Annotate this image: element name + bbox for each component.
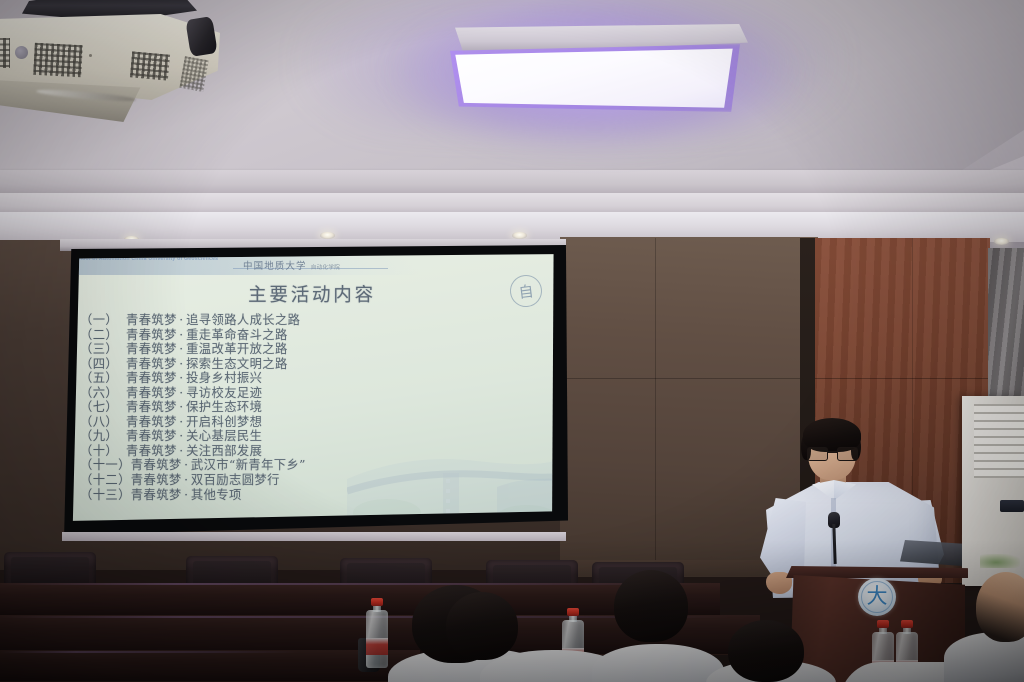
slide-item-prefix: 青春筑梦 (126, 386, 177, 401)
bottle-cap (877, 620, 889, 628)
audience-member-head (446, 592, 518, 660)
ceiling-projector (0, 0, 237, 126)
slide-item-prefix: 青春筑梦 (126, 400, 177, 415)
slide-activity-item: （五）青春筑梦·投身乡村振兴 (80, 371, 548, 386)
slide-item-number: （六） (80, 386, 126, 401)
slide-university-name: 中国地质大学 自动化学院 (243, 258, 340, 272)
slide-item-separator: · (182, 488, 191, 503)
slide-item-separator: · (177, 371, 186, 386)
table-edge-highlight (0, 651, 300, 653)
emblem-glyph: 大 (867, 586, 888, 607)
bottle-neck (373, 605, 381, 612)
eyeglass-bridge (827, 451, 838, 453)
slide-item-separator: · (177, 429, 186, 444)
slide-item-prefix: 青春筑梦 (131, 488, 182, 503)
slide-item-topic: 重温改革开放之路 (186, 342, 288, 357)
audience-member-head (728, 620, 804, 682)
wall-seam (560, 378, 818, 379)
recessed-downlight (320, 232, 335, 239)
bottle-cap (371, 598, 383, 606)
slide-item-separator: · (182, 458, 191, 473)
slide-item-number: （十二） (80, 473, 131, 488)
slide-activity-item: （七）青春筑梦·保护生态环境 (80, 400, 548, 415)
wall-seam (655, 238, 656, 576)
slide-item-number: （八） (80, 415, 126, 430)
slide-item-topic: 关注西部发展 (186, 444, 262, 459)
slide-activity-item: （四）青春筑梦·探索生态文明之路 (80, 357, 548, 372)
ac-control-panel[interactable] (1000, 500, 1024, 512)
chair-backrest-pad (11, 557, 89, 586)
projector-vent-grille (0, 38, 10, 68)
slide-item-number: （九） (80, 429, 126, 444)
ac-vent-grille (974, 404, 1024, 478)
slide-item-separator: · (182, 473, 191, 488)
eyeglass-lens-left (807, 447, 828, 461)
slide-item-topic: 开启科创梦想 (186, 415, 262, 430)
slide-item-topic: 重走革命奋斗之路 (186, 328, 288, 343)
slide-item-topic: 投身乡村振兴 (186, 371, 262, 386)
slide-item-prefix: 青春筑梦 (126, 415, 177, 430)
slide-activity-item: （六）青春筑梦·寻访校友足迹 (80, 386, 548, 401)
university-name-text: 中国地质大学 (243, 261, 307, 272)
slide-item-topic: 保护生态环境 (186, 400, 262, 415)
slide-item-prefix: 青春筑梦 (126, 357, 177, 372)
projector-sensor (15, 46, 28, 59)
slide-item-prefix: 青春筑梦 (126, 429, 177, 444)
slide-item-prefix: 青春筑梦 (131, 458, 182, 473)
slide-item-separator: · (177, 313, 186, 328)
slide-item-number: （十） (80, 444, 126, 459)
bottle-neck (903, 627, 911, 634)
slide-item-number: （五） (80, 371, 126, 386)
screen-bottom-weight-bar (62, 532, 566, 541)
wall-seam (815, 378, 990, 379)
projector-vent-grille (33, 43, 83, 77)
slide-item-separator: · (177, 386, 186, 401)
projection-screen: School of Automation China University of… (58, 239, 570, 551)
slide-activity-item: （一）青春筑梦·追寻领路人成长之路 (80, 313, 548, 328)
lamp-diffuser (451, 48, 737, 109)
slide-activity-item: （二）青春筑梦·重走革命奋斗之路 (80, 328, 548, 343)
slide-bridge-watermark (347, 417, 556, 525)
slide-item-prefix: 青春筑梦 (126, 342, 177, 357)
bottle-label (366, 638, 388, 655)
slide-item-prefix: 青春筑梦 (131, 473, 182, 488)
slide-item-topic: 追寻领路人成长之路 (186, 313, 300, 328)
recessed-downlight (512, 232, 527, 239)
slide-item-topic: 其他专项 (191, 488, 242, 503)
slide-item-number: （十一） (80, 458, 131, 473)
conference-room-photo: School of Automation China University of… (0, 0, 1024, 682)
air-conditioner-unit (962, 396, 1024, 586)
projector-screw (89, 54, 92, 57)
slide-activity-item: （三）青春筑梦·重温改革开放之路 (80, 342, 548, 357)
slide-item-topic: 武汉市“新青年下乡” (191, 458, 306, 473)
projector-adjustment-knob[interactable] (185, 16, 217, 57)
eyeglass-lens-right (837, 447, 858, 461)
slide-item-topic: 双百励志圆梦行 (191, 473, 280, 488)
eyeglasses-icon (807, 447, 858, 460)
slide-item-separator: · (177, 328, 186, 343)
slide-header-english-text: School of Automation China University of… (72, 256, 232, 272)
projector-vent-grille (179, 56, 208, 92)
slide-item-separator: · (177, 357, 186, 372)
university-emblem-icon: 大 (858, 578, 896, 616)
led-panel-light (441, 24, 748, 116)
bottle-cap (567, 608, 579, 616)
slide-item-topic: 寻访校友足迹 (186, 386, 262, 401)
slide-item-prefix: 青春筑梦 (126, 371, 177, 386)
slide-item-prefix: 青春筑梦 (126, 328, 177, 343)
slide-item-number: （一） (80, 313, 126, 328)
recessed-downlight (994, 238, 1009, 245)
slide-title: 主要活动内容 (68, 281, 556, 307)
slide-item-number: （七） (80, 400, 126, 415)
table-edge-highlight (0, 583, 700, 585)
slide-item-separator: · (177, 342, 186, 357)
slide-item-separator: · (177, 415, 186, 430)
slide-item-number: （十三） (80, 488, 131, 503)
slide-item-topic: 探索生态文明之路 (186, 357, 288, 372)
conference-table-back-row (0, 583, 720, 617)
slide-item-number: （三） (80, 342, 126, 357)
slide-item-prefix: 青春筑梦 (126, 444, 177, 459)
slide-item-prefix: 青春筑梦 (126, 313, 177, 328)
audience-member-head (976, 572, 1024, 642)
slide-item-topic: 关心基层民生 (186, 429, 262, 444)
bottle-cap (901, 620, 913, 628)
conference-table-front-row (0, 650, 420, 682)
ac-decal-plant (980, 554, 1020, 568)
audience-member-head (614, 570, 688, 642)
bottle-neck (879, 627, 887, 634)
slide-item-separator: · (177, 444, 186, 459)
bottle-neck (569, 615, 577, 622)
slide-item-number: （二） (80, 328, 126, 343)
screen-surface: School of Automation China University of… (68, 253, 556, 525)
projector-vent-grille (130, 51, 170, 80)
school-name-text: 自动化学院 (311, 265, 340, 271)
slide-item-number: （四） (80, 357, 126, 372)
slide-item-separator: · (177, 400, 186, 415)
